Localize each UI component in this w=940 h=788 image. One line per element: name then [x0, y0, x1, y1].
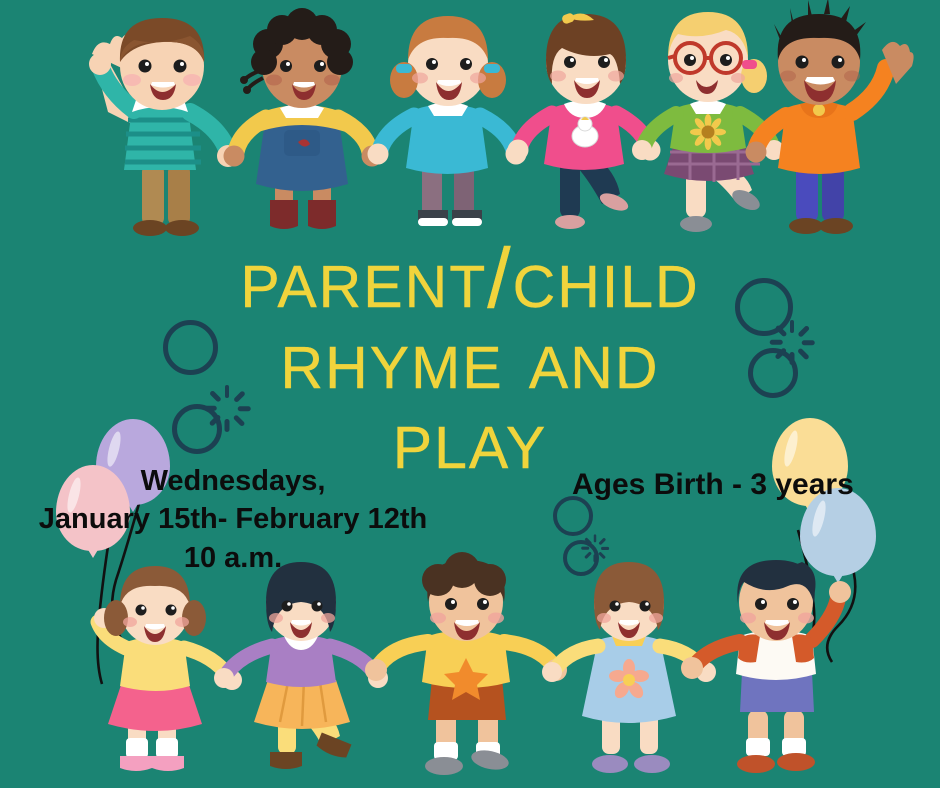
- child-girl-cyan-sweater: [368, 16, 527, 226]
- child-boy-star-shirt: [365, 552, 567, 775]
- bottom-children-illustration: [92, 560, 882, 788]
- child-girl-purple-top: [214, 562, 388, 769]
- title-line-1: Parent/Child: [0, 238, 940, 319]
- schedule-line-2: January 15th- February 12th: [18, 500, 448, 538]
- child-girl-yellow-top: [94, 566, 242, 771]
- top-children-illustration: [70, 4, 870, 239]
- child-girl-pink-sweater: [508, 12, 661, 229]
- child-boy-orange-shirt: [746, 0, 914, 234]
- child-boy-teal-stripes: [89, 18, 239, 236]
- child-girl-denim-overalls: [224, 8, 383, 229]
- ages-text: Ages Birth - 3 years: [572, 465, 912, 505]
- title-line-2: Rhyme and: [0, 319, 940, 400]
- poster-canvas: Parent/Child Rhyme and Play Wednesdays, …: [0, 0, 940, 788]
- schedule-line-1: Wednesdays,: [18, 462, 448, 500]
- child-girl-glasses-sunflower: [632, 12, 784, 232]
